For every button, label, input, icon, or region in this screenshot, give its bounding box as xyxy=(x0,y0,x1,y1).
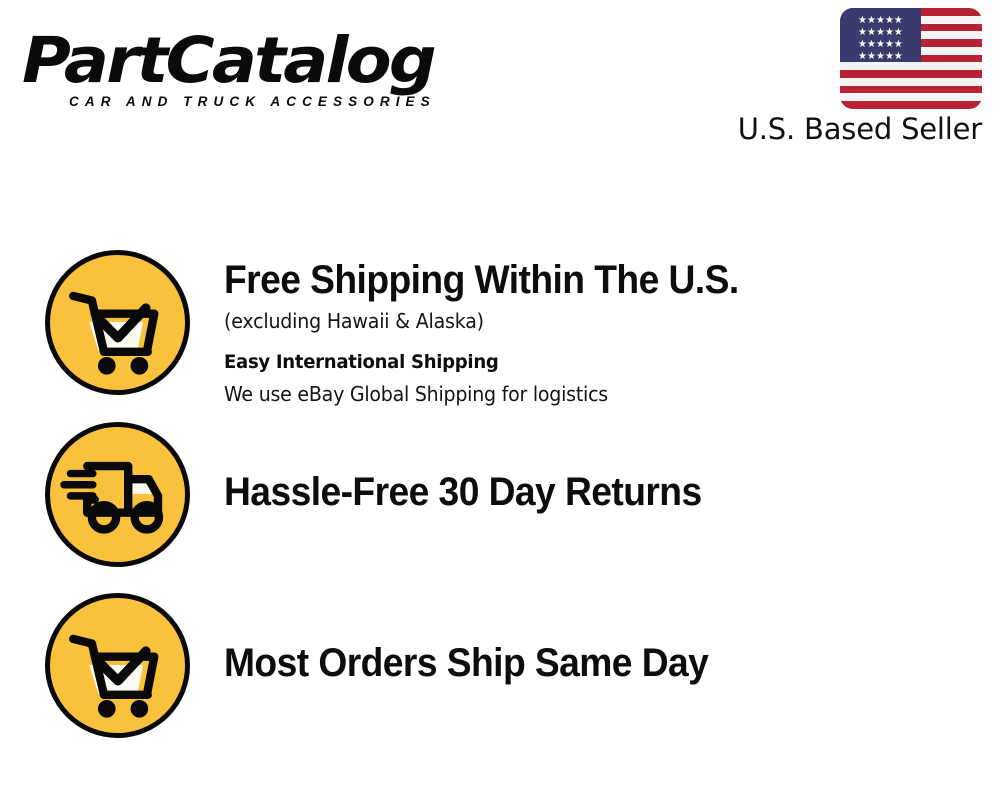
feature-text: Free Shipping Within The U.S. (excluding… xyxy=(190,250,985,410)
shopping-cart-check-icon xyxy=(45,250,190,395)
feature-note: (excluding Hawaii & Alaska) xyxy=(224,304,947,338)
feature-title: Hassle-Free 30 Day Returns xyxy=(224,468,932,516)
feature-text: Hassle-Free 30 Day Returns xyxy=(190,422,985,516)
feature-sub-note: We use eBay Global Shipping for logistic… xyxy=(224,378,947,410)
feature-row: Hassle-Free 30 Day Returns xyxy=(45,422,985,567)
delivery-truck-icon xyxy=(45,422,190,567)
us-based-seller-badge: ★★★★★ ★★★★★ ★★★★★ ★★★★★ U.S. Based Selle… xyxy=(714,8,984,149)
brand-logo[interactable]: PartCatalog CAR AND TRUCK ACCESSORIES xyxy=(22,22,492,117)
page-header: PartCatalog CAR AND TRUCK ACCESSORIES ★★… xyxy=(0,0,1000,175)
brand-wordmark: PartCatalog xyxy=(22,22,434,100)
brand-tagline: CAR AND TRUCK ACCESSORIES xyxy=(69,94,436,109)
feature-row: Most Orders Ship Same Day xyxy=(45,593,985,738)
us-flag-icon: ★★★★★ ★★★★★ ★★★★★ ★★★★★ xyxy=(840,8,982,109)
feature-row: Free Shipping Within The U.S. (excluding… xyxy=(45,250,985,410)
seller-label: U.S. Based Seller xyxy=(714,109,984,149)
shopping-cart-check-icon xyxy=(45,593,190,738)
feature-sub-title: Easy International Shipping xyxy=(224,346,947,378)
feature-title: Most Orders Ship Same Day xyxy=(224,639,932,687)
feature-title: Free Shipping Within The U.S. xyxy=(224,256,932,304)
feature-text: Most Orders Ship Same Day xyxy=(190,593,985,687)
